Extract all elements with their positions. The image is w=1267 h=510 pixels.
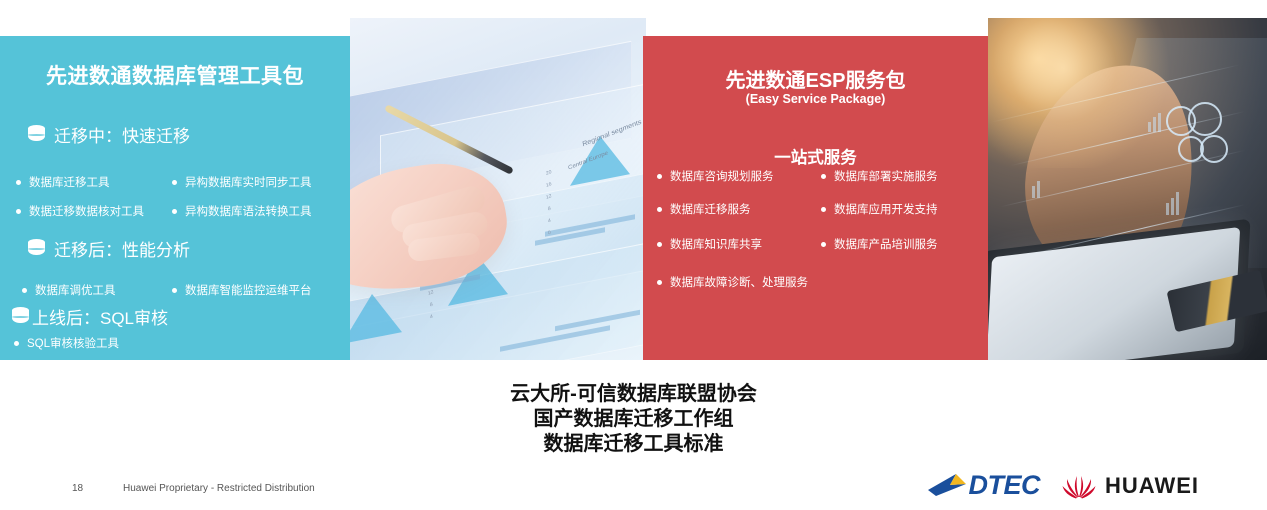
dtec-logo: DTEC [926,470,1041,501]
database-icon [12,307,29,327]
list-item: 数据库咨询规划服务 [657,168,774,184]
list-item-label: 数据库迁移服务 [670,201,751,217]
banner-strip: Regional segments Central Europe East Eu… [0,18,1267,360]
logo-group: DTEC HUAWEI [926,470,1200,501]
bullet-dot [172,209,177,214]
section-heading-label: 迁移中：快速迁移 [54,122,190,147]
caption-block: 云大所-可信数据库联盟协会 国产数据库迁移工作组 数据库迁移工具标准 [0,382,1267,457]
red-panel: 先进数通ESP服务包 (Easy Service Package) 一站式服务 … [643,36,988,360]
middle-photo: Regional segments Central Europe East Eu… [350,18,646,360]
bullet-dot [172,180,177,185]
light-glow [988,18,1178,168]
bullet-dot [22,288,27,293]
red-panel-middle-heading: 一站式服务 [643,144,988,168]
list-item-label: 数据库产品培训服务 [834,236,938,252]
list-item-label: 数据库智能监控运维平台 [185,282,312,298]
list-item-label: 数据库咨询规划服务 [670,168,774,184]
teal-panel: 先进数通数据库管理工具包 迁移中：快速迁移 数据库迁移工具 异构数据库实时同步工… [0,36,350,360]
huawei-logo: HUAWEI [1062,473,1199,499]
section-heading-after-launch: 上线后：SQL审核 [12,304,168,329]
teal-panel-title: 先进数通数据库管理工具包 [0,60,350,90]
list-item: 异构数据库实时同步工具 [172,174,312,190]
list-item-label: 数据库应用开发支持 [834,201,938,217]
bullet-dot [657,242,662,247]
bullet-dot [821,174,826,179]
bullet-dot [16,180,21,185]
list-item: 数据库故障诊断、处理服务 [657,274,808,290]
slide-canvas: Regional segments Central Europe East Eu… [0,0,1267,510]
dtec-arrow-icon [926,472,968,500]
list-item-label: 异构数据库语法转换工具 [185,203,312,219]
red-panel-title: 先进数通ESP服务包 [643,64,988,93]
bullet-dot [821,242,826,247]
list-item-label: 数据迁移数据核对工具 [29,203,144,219]
list-item: 数据库应用开发支持 [821,201,938,217]
dtec-wordmark: DTEC [969,470,1041,501]
caption-line-2: 国产数据库迁移工作组 [0,407,1267,432]
list-item: 数据库迁移工具 [16,174,110,190]
section-heading-after-migration: 迁移后：性能分析 [28,236,190,261]
caption-line-3: 数据库迁移工具标准 [0,432,1267,457]
section-heading-migrating: 迁移中：快速迁移 [28,122,190,147]
database-icon [28,239,45,259]
footer-note: Huawei Proprietary - Restricted Distribu… [123,483,315,494]
list-item-label: 数据库调优工具 [35,282,116,298]
list-item-label: 数据库迁移工具 [29,174,110,190]
database-icon [28,125,45,145]
list-item: 数据库迁移服务 [657,201,751,217]
list-item: 数据库智能监控运维平台 [172,282,312,298]
mini-bar-icon [1166,203,1169,215]
bullet-dot [657,280,662,285]
list-item: 数据迁移数据核对工具 [16,203,144,219]
red-panel-subtitle: (Easy Service Package) [643,92,988,106]
huawei-wordmark: HUAWEI [1105,473,1199,499]
section-heading-label: 迁移后：性能分析 [54,236,190,261]
list-item-label: 数据库故障诊断、处理服务 [670,274,808,290]
list-item: SQL审核核验工具 [14,335,119,351]
bullet-dot [657,174,662,179]
list-item-label: 数据库知识库共享 [670,236,762,252]
bullet-dot [16,209,21,214]
list-item-label: SQL审核核验工具 [27,335,119,351]
mini-bar-icon [1037,181,1040,198]
list-item-label: 异构数据库实时同步工具 [185,174,312,190]
mini-bar-icon [1171,198,1174,215]
list-item: 数据库调优工具 [22,282,116,298]
bullet-dot [172,288,177,293]
list-item: 数据库部署实施服务 [821,168,938,184]
mini-bar-icon [1032,186,1035,198]
list-item: 异构数据库语法转换工具 [172,203,312,219]
huawei-flower-icon [1062,473,1096,499]
list-item: 数据库知识库共享 [657,236,762,252]
bullet-dot [14,341,19,346]
bullet-dot [821,207,826,212]
right-photo [988,18,1267,360]
list-item: 数据库产品培训服务 [821,236,938,252]
list-item-label: 数据库部署实施服务 [834,168,938,184]
mini-bar-icon [1176,192,1179,215]
caption-line-1: 云大所-可信数据库联盟协会 [0,382,1267,407]
bullet-dot [657,207,662,212]
page-number: 18 [72,483,83,494]
section-heading-label: 上线后：SQL审核 [32,304,168,329]
